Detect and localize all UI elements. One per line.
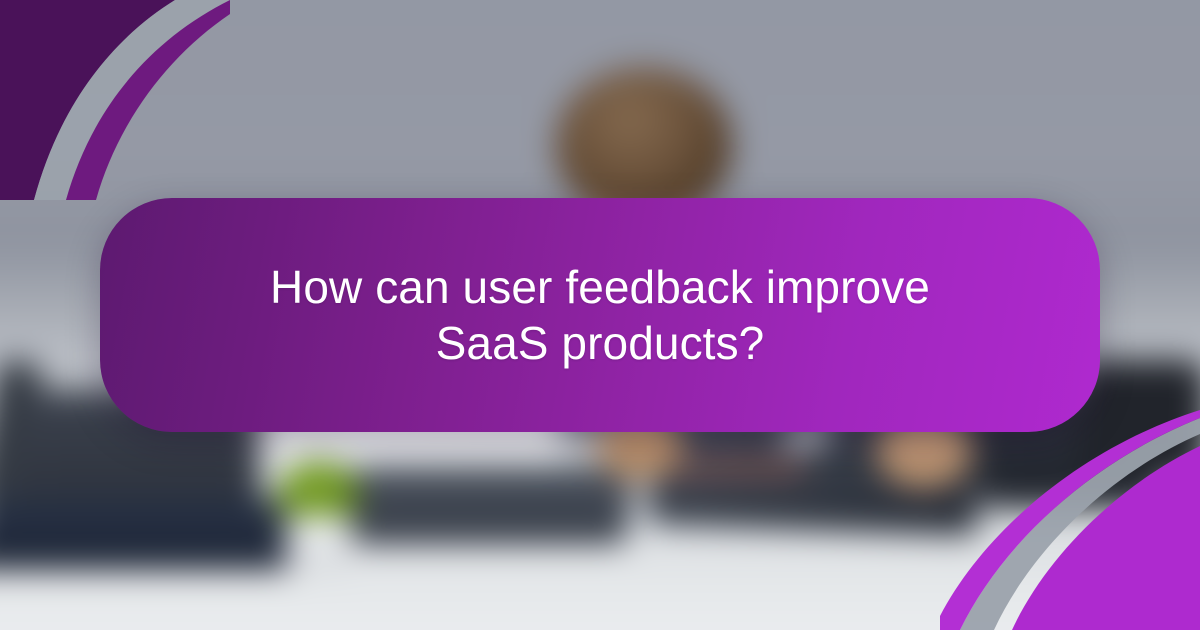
keyboard <box>345 466 635 544</box>
desk-accent <box>666 456 806 478</box>
plant-pot <box>286 516 352 572</box>
person-head <box>556 68 732 218</box>
share-card-canvas: How can user feedback improve SaaS produ… <box>0 0 1200 630</box>
headline-card: How can user feedback improve SaaS produ… <box>100 198 1100 432</box>
headline-text: How can user feedback improve SaaS produ… <box>240 259 960 371</box>
